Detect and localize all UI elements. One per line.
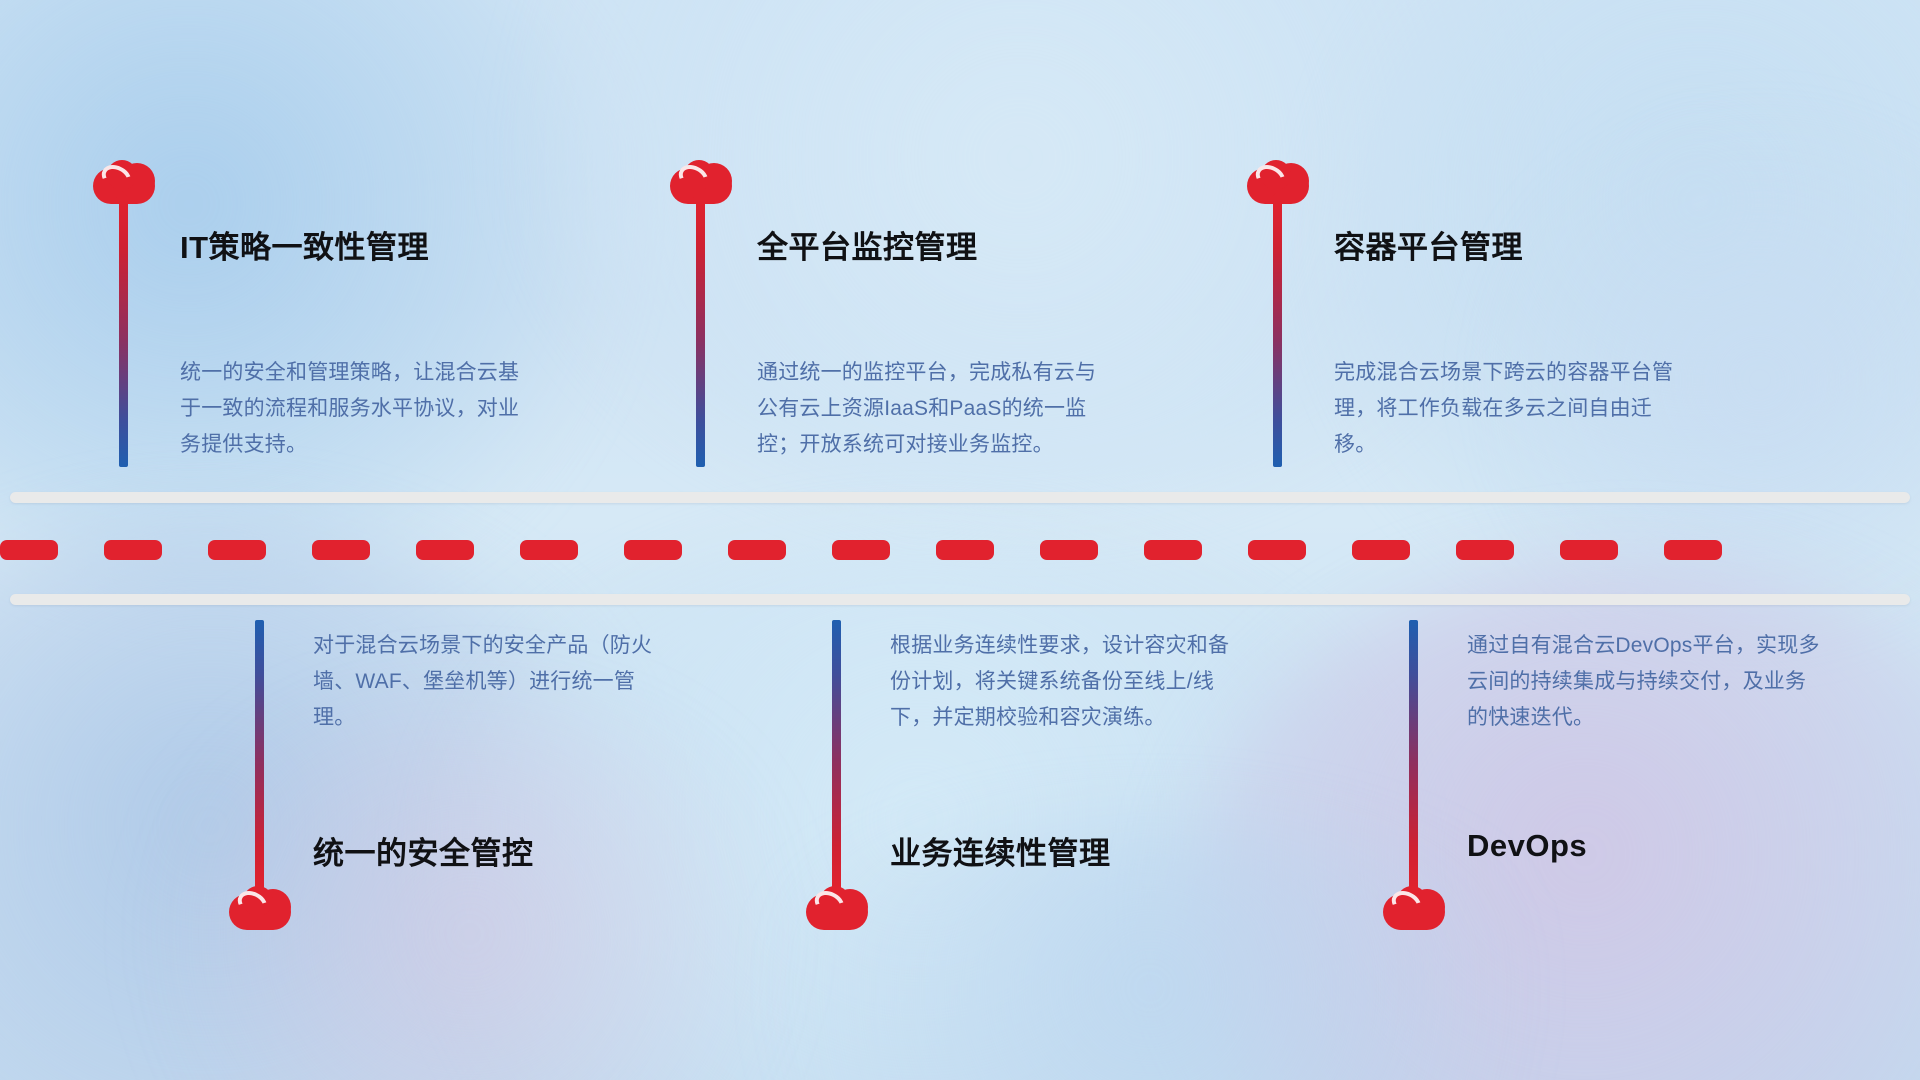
road-dash <box>936 540 994 560</box>
timeline-stem <box>119 200 128 467</box>
road-dash <box>312 540 370 560</box>
road-dash <box>832 540 890 560</box>
road-dash <box>1248 540 1306 560</box>
road-dash <box>1664 540 1722 560</box>
cloud-icon <box>229 886 291 930</box>
timeline-stem <box>832 620 841 890</box>
road-dash <box>416 540 474 560</box>
top-item-title-2: 全平台监控管理 <box>757 222 978 267</box>
cloud-icon <box>1383 886 1445 930</box>
top-item-body-3: 完成混合云场景下跨云的容器平台管理，将工作负载在多云之间自由迁移。 <box>1334 355 1689 463</box>
bottom-item-title-3: DevOps <box>1467 828 1587 864</box>
road-dash <box>624 540 682 560</box>
road-line-upper <box>10 492 1910 503</box>
infographic-canvas: IT策略一致性管理 统一的安全和管理策略，让混合云基于一致的流程和服务水平协议，… <box>0 0 1920 1080</box>
top-item-body-1: 统一的安全和管理策略，让混合云基于一致的流程和服务水平协议，对业务提供支持。 <box>180 355 535 463</box>
top-item-title-1: IT策略一致性管理 <box>180 222 429 267</box>
cloud-icon <box>1247 160 1309 204</box>
top-item-title-3: 容器平台管理 <box>1334 222 1523 267</box>
road-dash <box>1560 540 1618 560</box>
road-dash <box>0 540 58 560</box>
cloud-icon <box>806 886 868 930</box>
cloud-icon <box>93 160 155 204</box>
road-dash <box>520 540 578 560</box>
bottom-item-title-1: 统一的安全管控 <box>313 828 534 873</box>
road-dashed-centerline <box>0 540 1920 560</box>
timeline-stem <box>255 620 264 890</box>
road-dash <box>104 540 162 560</box>
top-item-body-2: 通过统一的监控平台，完成私有云与公有云上资源IaaS和PaaS的统一监控；开放系… <box>757 355 1112 463</box>
timeline-stem <box>696 200 705 467</box>
road-dash <box>728 540 786 560</box>
road-line-lower <box>10 594 1910 605</box>
road-dash <box>1040 540 1098 560</box>
bottom-item-body-1: 对于混合云场景下的安全产品（防火墙、WAF、堡垒机等）进行统一管理。 <box>313 628 668 736</box>
timeline-stem <box>1409 620 1418 890</box>
cloud-icon <box>670 160 732 204</box>
timeline-stem <box>1273 200 1282 467</box>
road-dash <box>1456 540 1514 560</box>
bottom-item-body-2: 根据业务连续性要求，设计容灾和备份计划，将关键系统备份至线上/线下，并定期校验和… <box>890 628 1245 736</box>
road-dash <box>1144 540 1202 560</box>
bottom-item-title-2: 业务连续性管理 <box>890 828 1111 873</box>
road-dash <box>1352 540 1410 560</box>
bottom-item-body-3: 通过自有混合云DevOps平台，实现多云间的持续集成与持续交付，及业务的快速迭代… <box>1467 628 1822 736</box>
road-dash <box>208 540 266 560</box>
